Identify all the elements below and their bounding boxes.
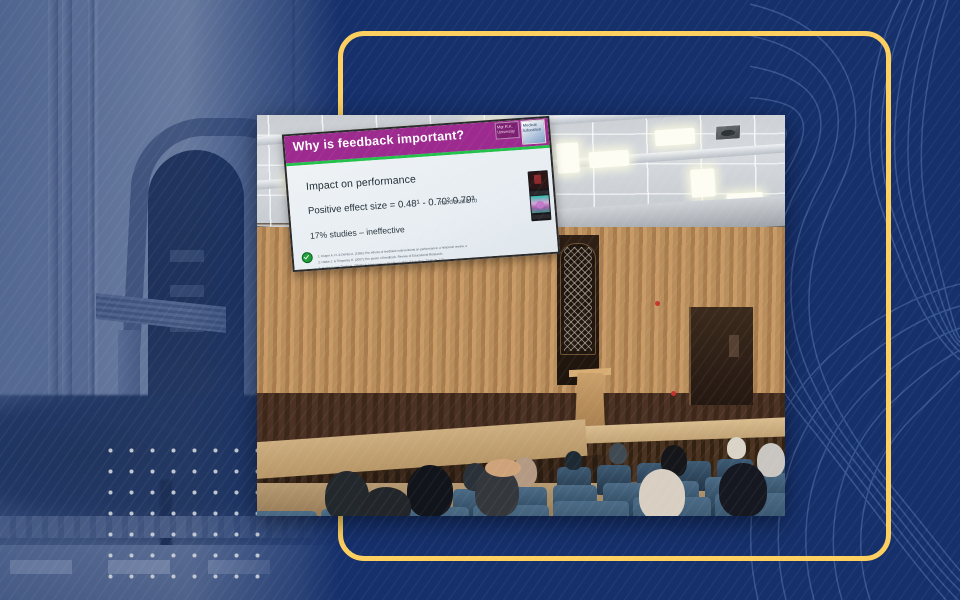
slide-logo-group: Mgr R.K. University Medical Education (495, 119, 547, 146)
audience-head (609, 443, 627, 464)
slide-line-ineffective: 17% studies – ineffective (310, 224, 405, 241)
ceiling-air-vent (715, 124, 741, 141)
fire-alarm-icon (671, 391, 676, 396)
audience-head-scarf (639, 469, 685, 516)
participant-name-bar (532, 214, 550, 219)
ceiling-light (556, 142, 580, 173)
slide-body: Impact on performance Positive effect si… (286, 148, 558, 270)
participant-tile-2 (531, 195, 550, 213)
audience-head (565, 451, 582, 470)
video-conference-strip (528, 170, 552, 221)
slide-line-impact: Impact on performance (306, 173, 417, 193)
halftone-dot-grid (100, 440, 260, 585)
slide-title: Why is feedback important? (292, 128, 465, 154)
lecture-hall-photo: Why is feedback important? Mgr R.K. Univ… (257, 115, 785, 516)
university-logo: Mgr R.K. University (495, 121, 520, 140)
projection-screen: Why is feedback important? Mgr R.K. Univ… (282, 116, 560, 272)
audience-head-hijab (407, 465, 453, 516)
ceiling-light (654, 128, 695, 147)
hall-door (689, 307, 753, 405)
participant-name-bar (530, 190, 548, 195)
audience-head-bald (485, 459, 521, 477)
fire-alarm-icon (655, 301, 660, 306)
ornamental-lattice-screen (560, 243, 596, 355)
green-check-badge (301, 252, 313, 264)
audience-head-hijab (719, 463, 767, 516)
auditorium-seat (257, 511, 317, 516)
medical-education-logo: Medical Education (520, 119, 546, 145)
participant-tile-1 (529, 171, 548, 189)
poster-canvas: Why is feedback important? Mgr R.K. Univ… (0, 0, 960, 600)
auditorium-seat (553, 501, 629, 516)
ceiling-light (588, 150, 629, 169)
ceiling-light (690, 168, 716, 198)
audience-head-scarf (727, 437, 746, 459)
